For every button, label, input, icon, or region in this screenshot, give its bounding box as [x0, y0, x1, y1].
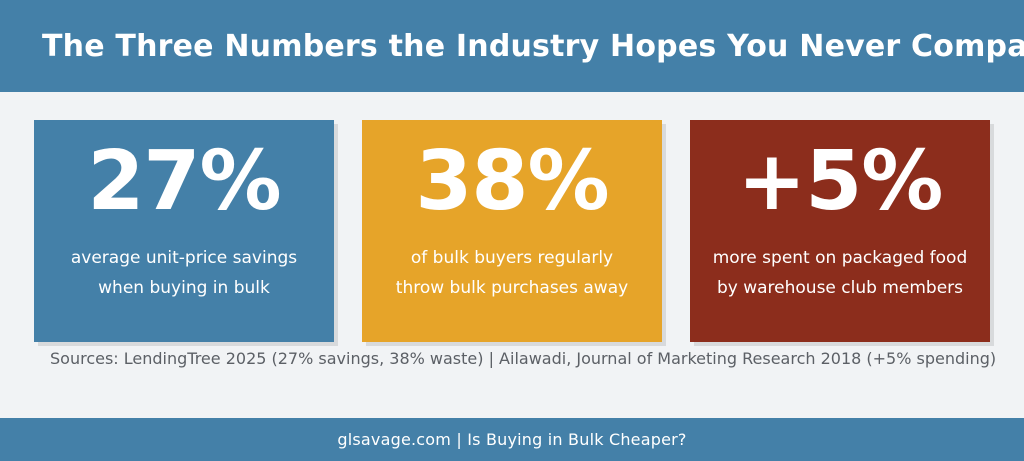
stat-card-waste: 38% of bulk buyers regularly throw bulk … — [362, 120, 662, 342]
page-title: The Three Numbers the Industry Hopes You… — [0, 29, 1024, 64]
header-bar: The Three Numbers the Industry Hopes You… — [0, 0, 1024, 92]
stat-caption: more spent on packaged food by warehouse… — [703, 243, 978, 303]
stat-caption-line-2: throw bulk purchases away — [396, 273, 628, 303]
footer-bar: glsavage.com | Is Buying in Bulk Cheaper… — [0, 418, 1024, 461]
footer-attribution: glsavage.com | Is Buying in Bulk Cheaper… — [337, 430, 686, 449]
stat-card-spending: +5% more spent on packaged food by wareh… — [690, 120, 990, 342]
infographic-root: The Three Numbers the Industry Hopes You… — [0, 0, 1024, 461]
stat-caption-line-1: average unit-price savings — [71, 243, 297, 273]
stat-card-savings: 27% average unit-price savings when buyi… — [34, 120, 334, 342]
stat-caption-line-1: of bulk buyers regularly — [396, 243, 628, 273]
stat-caption-line-1: more spent on packaged food — [713, 243, 968, 273]
stat-caption-line-2: by warehouse club members — [713, 273, 968, 303]
stat-caption: of bulk buyers regularly throw bulk purc… — [386, 243, 638, 303]
stat-value: 27% — [87, 138, 280, 227]
stat-value: 38% — [415, 138, 608, 227]
stat-cards-row: 27% average unit-price savings when buyi… — [34, 120, 990, 342]
stat-caption-line-2: when buying in bulk — [71, 273, 297, 303]
sources-note: Sources: LendingTree 2025 (27% savings, … — [50, 348, 984, 370]
stat-caption: average unit-price savings when buying i… — [61, 243, 307, 303]
stat-value: +5% — [738, 138, 943, 227]
body-area: 27% average unit-price savings when buyi… — [0, 92, 1024, 418]
